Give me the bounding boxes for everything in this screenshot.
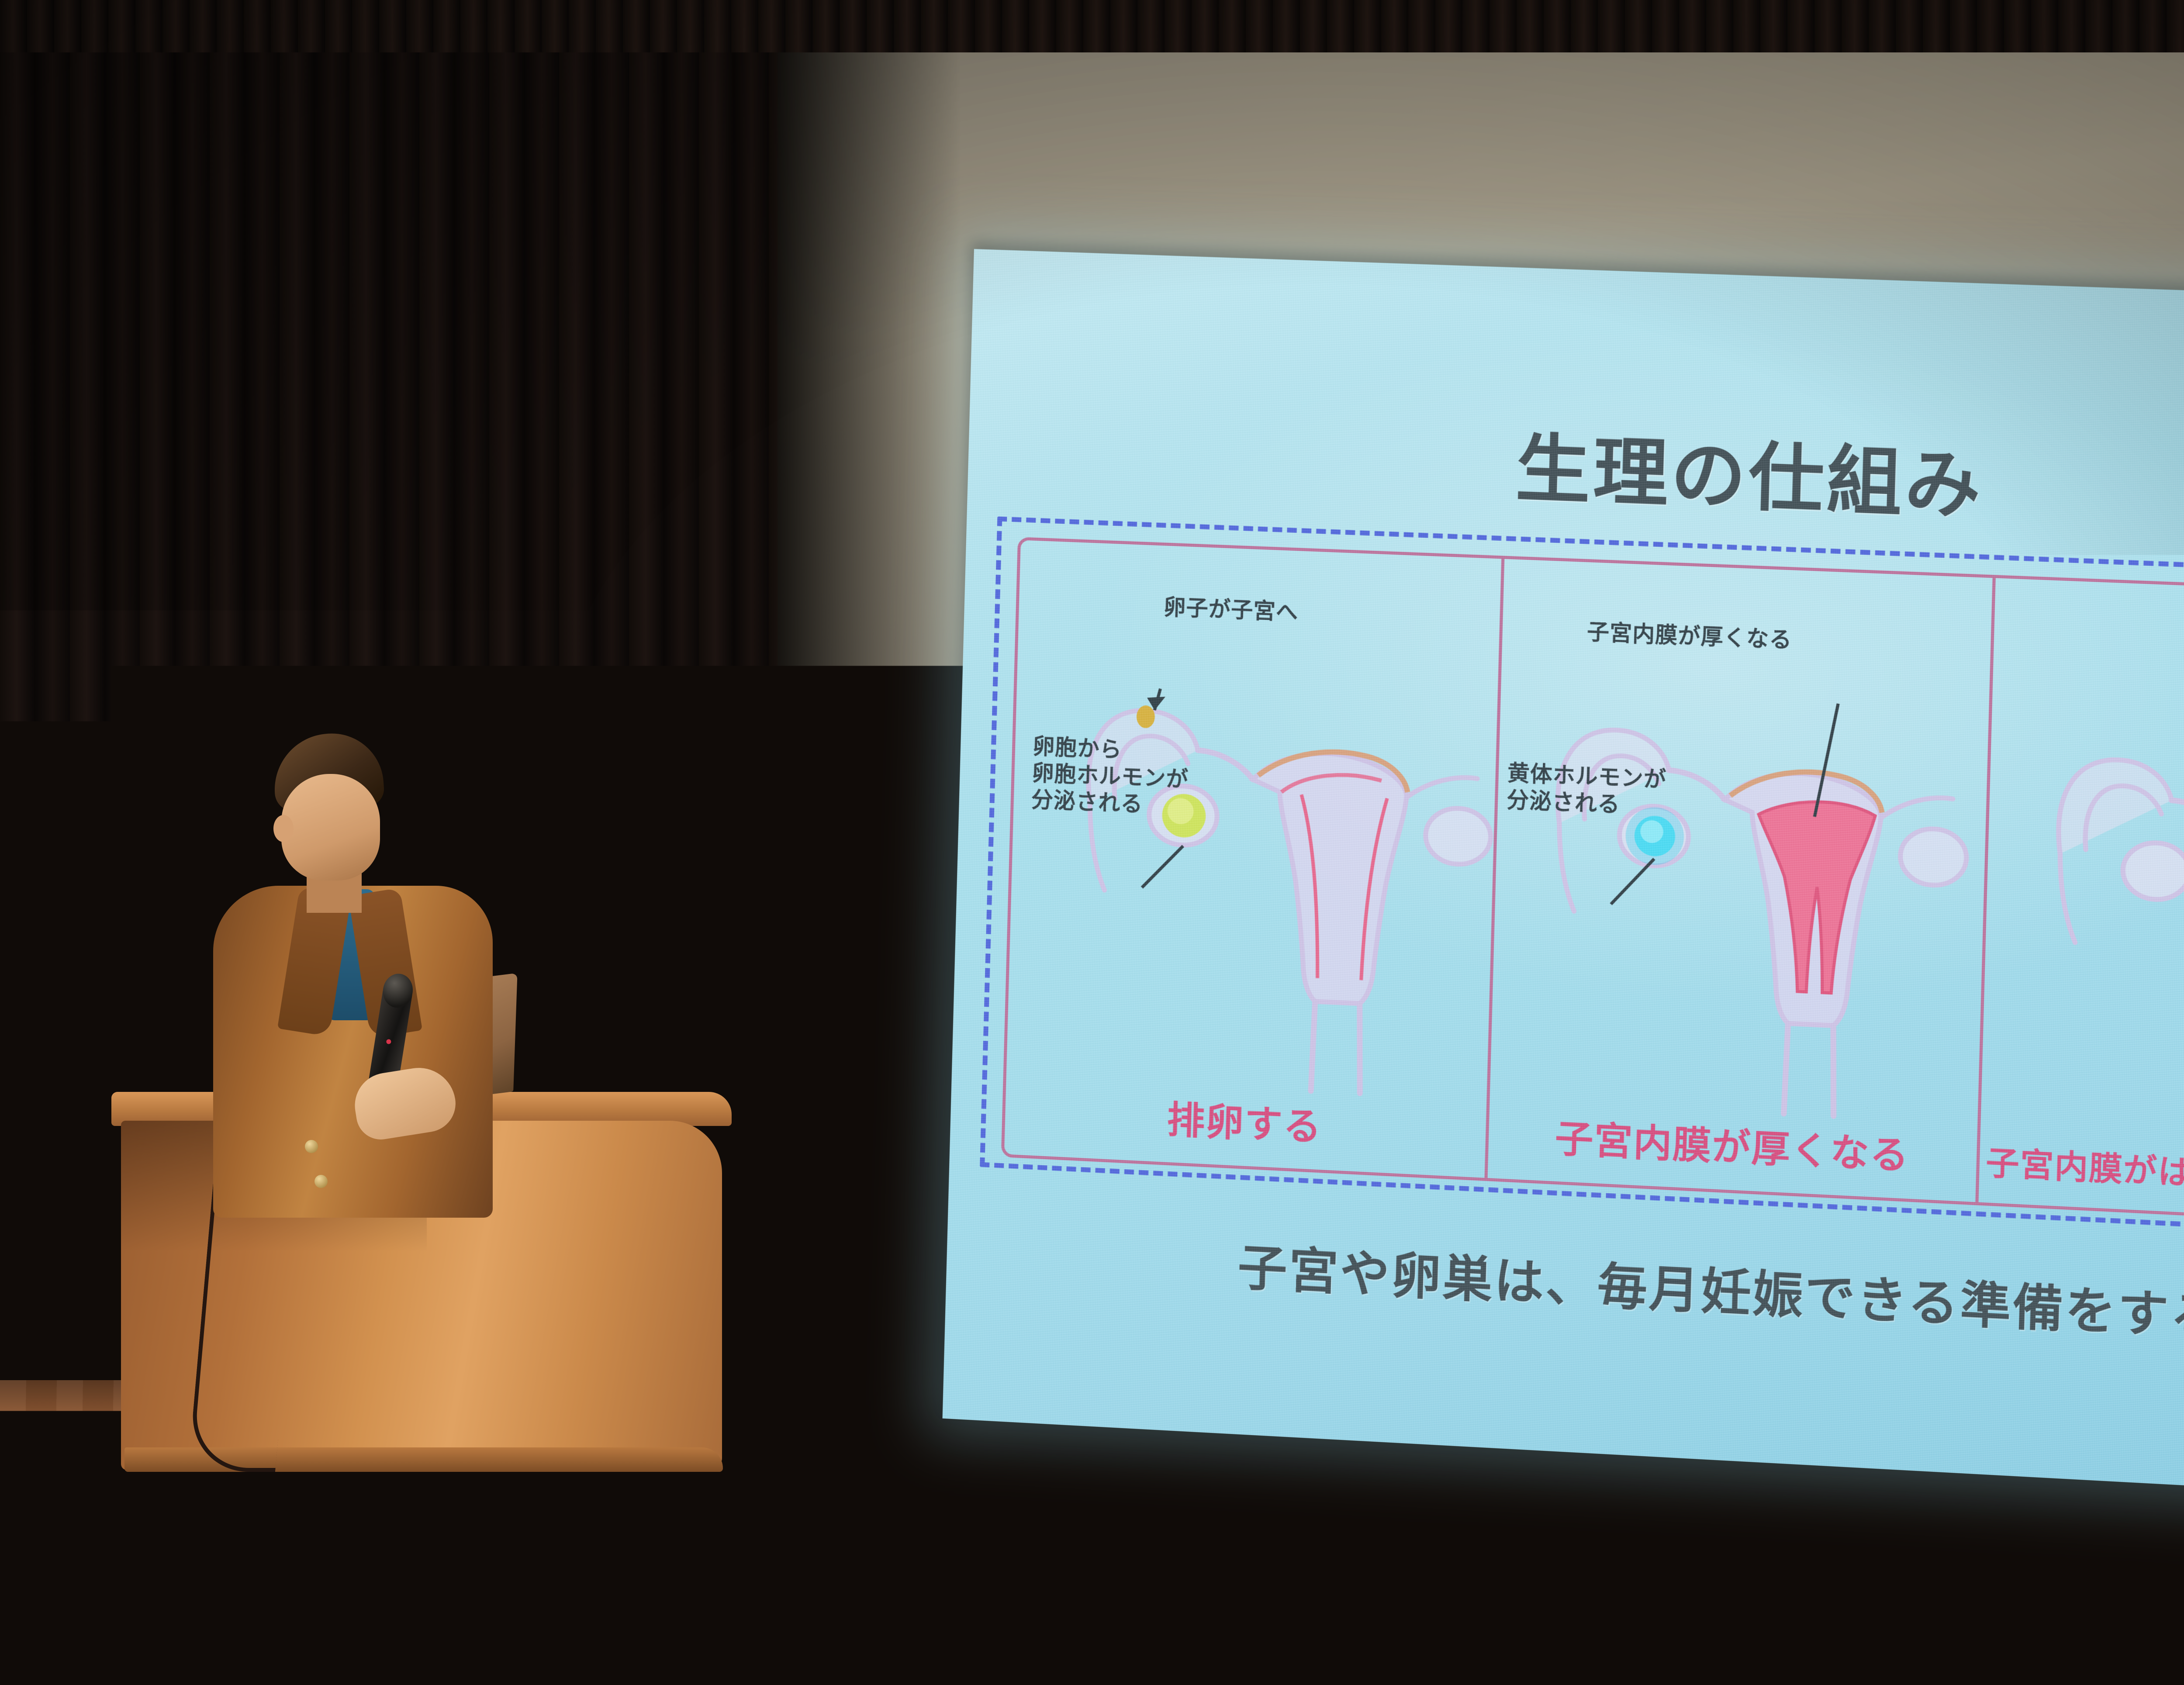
slide-bottom-message: 子宮や卵巣は、毎月妊娠できる準備をする	[946, 1213, 2184, 1365]
audience-fade	[0, 1598, 2184, 1685]
stage-curtain-top	[0, 0, 2184, 52]
jacket-button	[305, 1140, 318, 1153]
jacket-button	[314, 1175, 328, 1188]
uterus-diagram-3	[1979, 578, 2184, 1227]
panel-ovulation: 卵子が子宮へ 卵胞から 卵胞ホルモンが 分泌される 排卵する	[1004, 540, 1501, 1178]
speaker-ear	[273, 815, 294, 842]
annotation-luteal-hormone: 黄体ホルモンが 分泌される	[1506, 760, 1666, 820]
speaker-face	[281, 774, 380, 880]
slide-content: みんなの生理痛 プロジェクト 生理の仕組み	[943, 249, 2184, 1503]
annotation-egg-to-uterus: 卵子が子宮へ	[1163, 594, 1299, 626]
annotation-follicle-hormone: 卵胞から 卵胞ホルモンが 分泌される	[1031, 733, 1189, 820]
wall-shadow	[778, 0, 961, 1315]
auditorium-scene: みんなの生理痛 プロジェクト 生理の仕組み	[0, 0, 2184, 1685]
microphone-led-icon	[386, 1039, 392, 1045]
projection-screen: みんなの生理痛 プロジェクト 生理の仕組み	[943, 249, 2184, 1503]
panel-menstruation: 子宮内膜がはがれおちる▶月経	[1976, 578, 2184, 1226]
uterus-diagram-1	[1004, 540, 1501, 1178]
screen-surface: みんなの生理痛 プロジェクト 生理の仕組み	[943, 249, 2184, 1503]
speaker-person	[188, 734, 529, 1214]
panel-thickening: 子宮内膜が厚くなる 黄体ホルモンが 分泌される 子宮内膜が厚くなる	[1484, 559, 1993, 1202]
uterus-diagram-2	[1487, 559, 1993, 1202]
panel-container: 卵子が子宮へ 卵胞から 卵胞ホルモンが 分泌される 排卵する	[1001, 537, 2184, 1230]
